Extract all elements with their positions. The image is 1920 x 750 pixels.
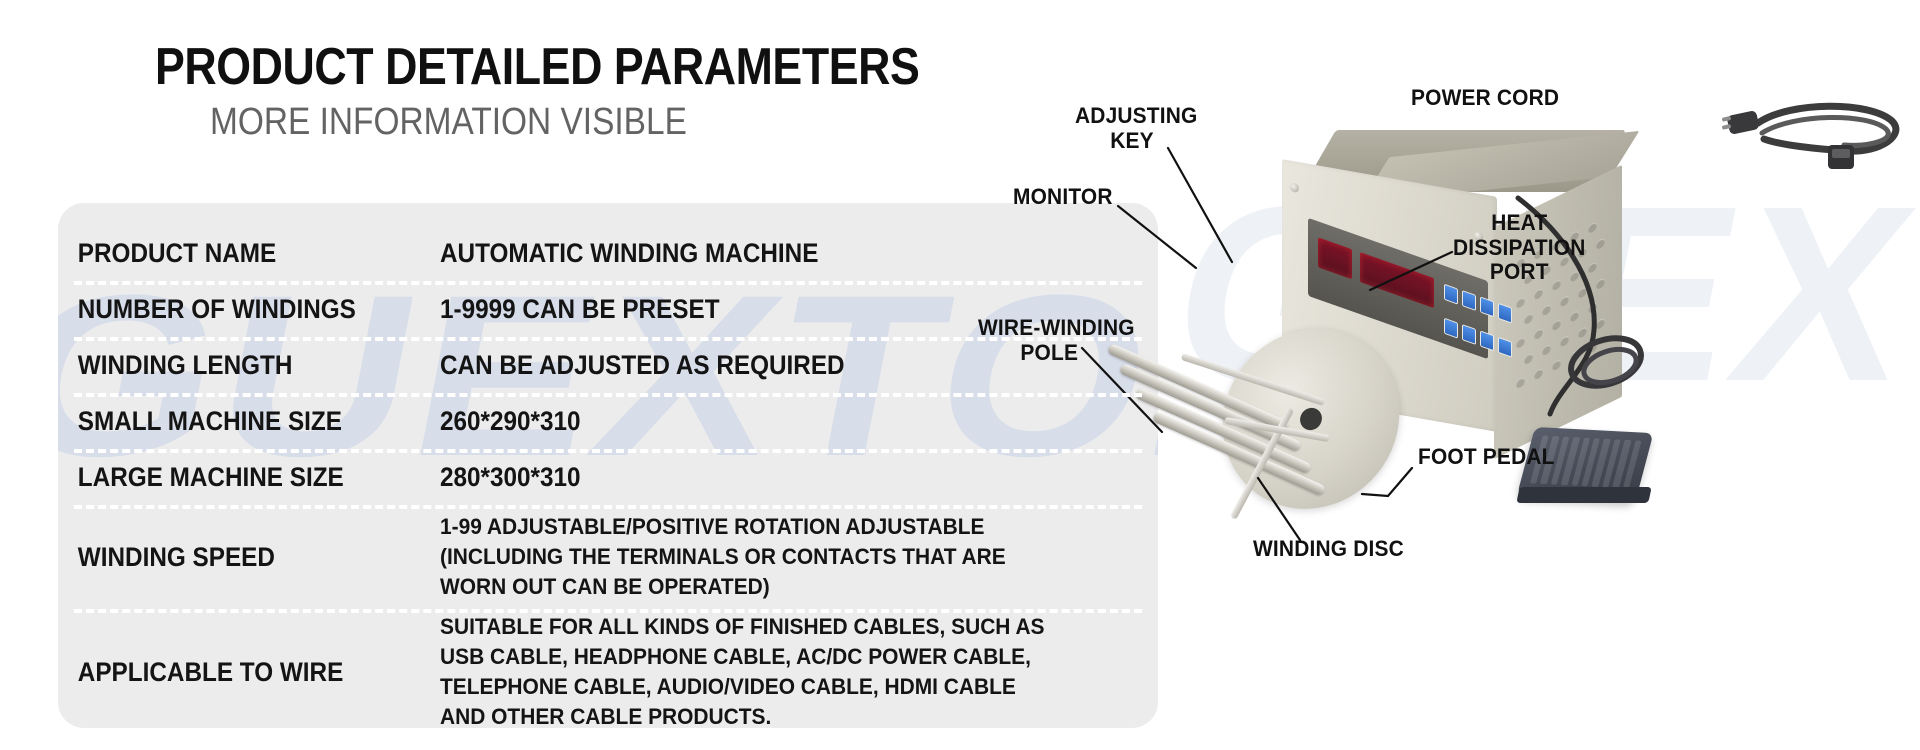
spec-value-line: USB CABLE, HEADPHONE CABLE, AC/DC POWER …	[440, 642, 1091, 672]
spec-value: AUTOMATIC WINDING MACHINE	[440, 238, 1086, 269]
spec-value-line: 1-99 ADJUSTABLE/POSITIVE ROTATION ADJUST…	[440, 512, 1091, 542]
spec-value-line: SUITABLE FOR ALL KINDS OF FINISHED CABLE…	[440, 612, 1091, 642]
spec-value-line: AND OTHER CABLE PRODUCTS.	[440, 702, 1091, 728]
spec-value-line: (INCLUDING THE TERMINALS OR CONTACTS THA…	[440, 542, 1091, 572]
spec-value: SUITABLE FOR ALL KINDS OF FINISHED CABLE…	[440, 612, 1108, 728]
callout-heat-dissipation-port: HEAT DISSIPATION PORT	[1448, 211, 1591, 285]
page-subtitle: MORE INFORMATION VISIBLE	[210, 101, 980, 145]
callout-foot-pedal: FOOT PEDAL	[1418, 445, 1555, 470]
table-row: LARGE MACHINE SIZE 280*300*310	[58, 449, 1158, 505]
spec-value-line: WORN OUT CAN BE OPERATED)	[440, 572, 1091, 602]
spec-label: APPLICABLE TO WIRE	[58, 657, 402, 688]
product-illustration: GUEXTOL	[1160, 0, 1920, 750]
power-cord-icon	[1720, 95, 1910, 175]
specification-table: PRODUCT NAME AUTOMATIC WINDING MACHINE N…	[58, 203, 1158, 728]
winding-disc-hub	[1299, 406, 1322, 431]
page-title: PRODUCT DETAILED PARAMETERS	[155, 40, 955, 95]
monitor-display-small	[1318, 237, 1352, 279]
screw-icon	[1290, 182, 1299, 193]
spec-label: NUMBER OF WINDINGS	[58, 294, 402, 325]
callout-winding-disc: WINDING DISC	[1253, 537, 1404, 562]
spec-label: PRODUCT NAME	[58, 238, 402, 269]
callout-adjusting-key: ADJUSTING KEY	[1075, 104, 1189, 153]
table-row: NUMBER OF WINDINGS 1-9999 CAN BE PRESET	[58, 281, 1158, 337]
spec-label: WINDING LENGTH	[58, 350, 402, 381]
spec-label: WINDING SPEED	[58, 542, 402, 573]
table-row-winding-speed: WINDING SPEED 1-99 ADJUSTABLE/POSITIVE R…	[58, 505, 1158, 609]
spec-label: LARGE MACHINE SIZE	[58, 462, 402, 493]
spec-value-line: TELEPHONE CABLE, AUDIO/VIDEO CABLE, HDMI…	[440, 672, 1091, 702]
spec-value: CAN BE ADJUSTED AS REQUIRED	[440, 350, 1086, 381]
table-row: WINDING LENGTH CAN BE ADJUSTED AS REQUIR…	[58, 337, 1158, 393]
spec-value: 260*290*310	[440, 406, 1086, 437]
product-parameters-page: PRODUCT DETAILED PARAMETERS MORE INFORMA…	[0, 0, 1920, 750]
spec-value: 280*300*310	[440, 462, 1086, 493]
table-row: SMALL MACHINE SIZE 260*290*310	[58, 393, 1158, 449]
specification-panel: GUEXTOL PRODUCT NAME AUTOMATIC WINDING M…	[58, 203, 1158, 728]
callout-power-cord: POWER CORD	[1411, 86, 1559, 111]
table-row: PRODUCT NAME AUTOMATIC WINDING MACHINE	[58, 225, 1158, 281]
spec-value: 1-9999 CAN BE PRESET	[440, 294, 1086, 325]
table-row-applicable-to-wire: APPLICABLE TO WIRE SUITABLE FOR ALL KIND…	[58, 609, 1158, 728]
page-header: PRODUCT DETAILED PARAMETERS MORE INFORMA…	[155, 40, 1085, 144]
spec-label: SMALL MACHINE SIZE	[58, 406, 402, 437]
spec-value: 1-99 ADJUSTABLE/POSITIVE ROTATION ADJUST…	[440, 512, 1108, 602]
